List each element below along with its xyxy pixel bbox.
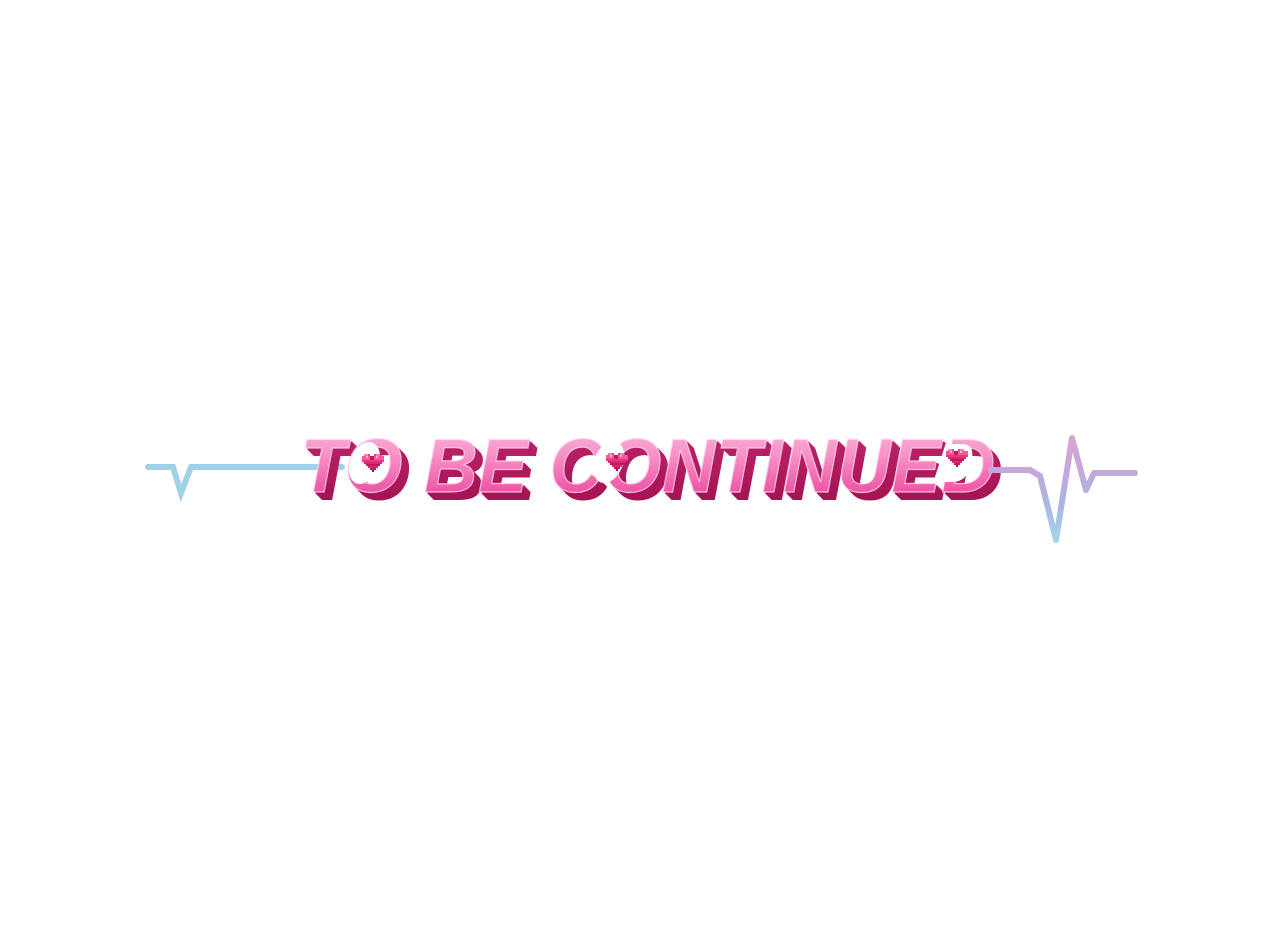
canvas-root: TO BE CONTINUED [0, 0, 1280, 940]
to-be-continued-banner: TO BE CONTINUED [0, 0, 1280, 940]
headline-group: TO BE CONTINUED [300, 418, 1000, 514]
headline-text: TO BE CONTINUED [300, 418, 1000, 514]
ecg-heartbeat-pulse-icon [988, 428, 1138, 548]
